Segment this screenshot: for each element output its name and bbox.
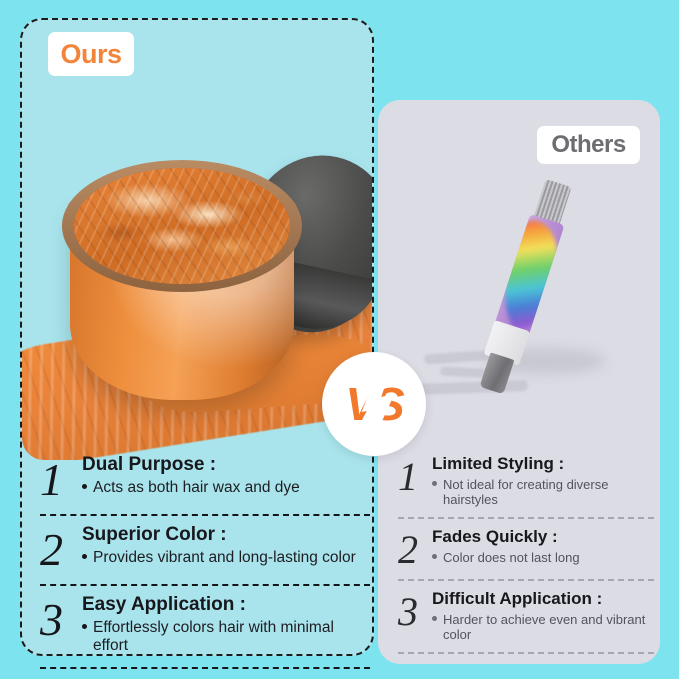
list-separator (398, 652, 654, 654)
item-number: 1 (398, 457, 432, 497)
list-item: 1 Limited Styling : Not ideal for creati… (398, 455, 654, 508)
wax-jar (62, 160, 302, 400)
item-title: Limited Styling : (432, 455, 654, 474)
pen-tip (479, 352, 514, 394)
list-item: 3 Difficult Application : Harder to achi… (398, 590, 654, 643)
item-title: Fades Quickly : (432, 528, 654, 547)
jar-interior (74, 168, 290, 284)
bullet-dot (82, 554, 87, 559)
others-badge: Others (537, 126, 640, 164)
bullet-dot (432, 554, 437, 559)
item-detail: Provides vibrant and long-lasting color (93, 549, 356, 568)
ours-product-artwork (22, 20, 372, 460)
item-title: Difficult Application : (432, 590, 654, 609)
list-separator (398, 579, 654, 581)
item-detail: Color does not last long (443, 550, 580, 566)
others-feature-list: 1 Limited Styling : Not ideal for creati… (398, 455, 654, 663)
list-item: 2 Fades Quickly : Color does not last lo… (398, 528, 654, 570)
vs-badge: VS (322, 352, 426, 456)
list-separator (398, 517, 654, 519)
bullet-dot (432, 481, 437, 486)
item-number: 2 (40, 527, 82, 573)
pen-barrel (494, 214, 565, 337)
item-number: 3 (398, 592, 432, 632)
item-detail: Acts as both hair wax and dye (93, 479, 300, 498)
item-detail: Harder to achieve even and vibrant color (443, 612, 654, 643)
list-item: 1 Dual Purpose : Acts as both hair wax a… (40, 455, 370, 505)
wax-texture (74, 168, 290, 284)
rainbow-pattern (494, 217, 564, 337)
ours-badge: Ours (48, 32, 134, 76)
jar-mouth (62, 160, 302, 292)
bullet-dot (432, 616, 437, 621)
list-separator (40, 514, 370, 516)
bullet-dot (82, 624, 87, 629)
bullet-dot (82, 484, 87, 489)
item-number: 2 (398, 530, 432, 570)
comparison-graphic: Ours Others VS 1 Dual Purpose : Acts as … (0, 0, 679, 679)
item-title: Superior Color : (82, 525, 370, 546)
list-separator (40, 584, 370, 586)
list-item: 3 Easy Application : Effortlessly colors… (40, 595, 370, 658)
item-detail: Not ideal for creating diverse hairstyle… (443, 477, 654, 508)
lightning-bolt-icon (358, 360, 398, 452)
item-title: Dual Purpose : (82, 455, 370, 476)
item-detail: Effortlessly colors hair with minimal ef… (93, 619, 370, 656)
ours-badge-label: Ours (60, 39, 121, 70)
item-title: Easy Application : (82, 595, 370, 616)
ours-feature-list: 1 Dual Purpose : Acts as both hair wax a… (40, 455, 370, 678)
list-item: 2 Superior Color : Provides vibrant and … (40, 525, 370, 575)
list-separator (40, 667, 370, 669)
item-number: 3 (40, 597, 82, 643)
others-badge-label: Others (551, 131, 625, 159)
item-number: 1 (40, 457, 82, 503)
